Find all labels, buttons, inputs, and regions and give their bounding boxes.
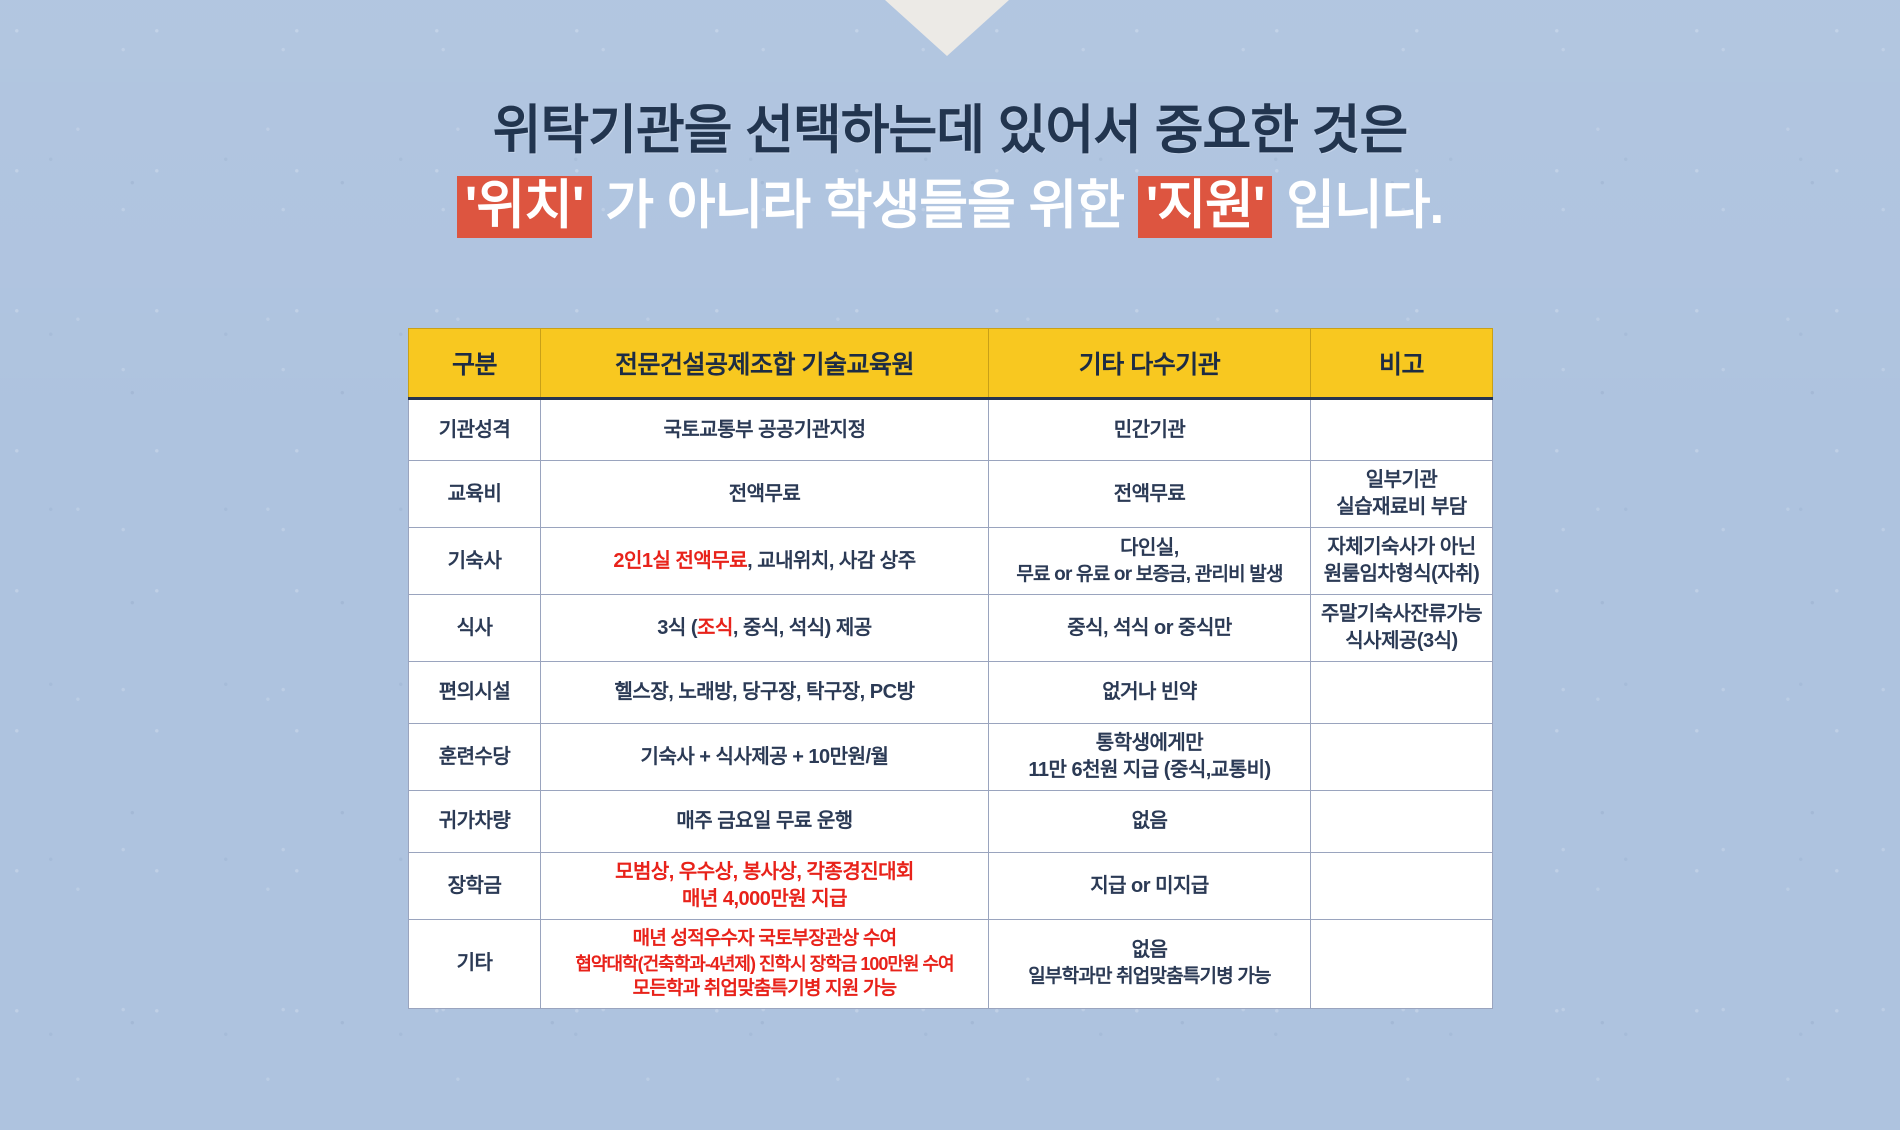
header-note: 비고 [1311,329,1493,399]
row-note [1311,399,1493,461]
row-main-line-1: 모범상, 우수상, 봉사상, 각종경진대회 [547,859,982,886]
row-other: 없음 [989,791,1311,853]
row-main-prefix: 3식 ( [657,617,697,639]
row-label: 편의시설 [409,662,541,724]
row-other: 없음 일부학과만 취업맞춤특기병 가능 [989,920,1311,1009]
table-row: 식사 3식 (조식, 중식, 석식) 제공 중식, 석식 or 중식만 주말기숙… [409,595,1493,662]
row-note [1311,724,1493,791]
row-main-line-2: 협약대학(건축학과-4년제) 진학시 장학금 100만원 수여 [547,952,982,976]
comparison-table-wrap: 구분 전문건설공제조합 기술교육원 기타 다수기관 비고 기관성격 국토교통부 … [408,328,1492,1009]
title-block: 위탁기관을 선택하는데 있어서 중요한 것은 '위치' 가 아니라 학생들을 위… [0,100,1900,238]
title-line-1: 위탁기관을 선택하는데 있어서 중요한 것은 [0,100,1900,163]
row-label: 장학금 [409,853,541,920]
row-other: 없거나 빈약 [989,662,1311,724]
row-label: 귀가차량 [409,791,541,853]
row-note: 주말기숙사잔류가능 식사제공(3식) [1311,595,1493,662]
row-main: 매년 성적우수자 국토부장관상 수여 협약대학(건축학과-4년제) 진학시 장학… [541,920,989,1009]
row-label: 기타 [409,920,541,1009]
title-highlight-support: '지원' [1138,176,1273,238]
row-main-line-3: 모든학과 취업맞춤특기병 지원 가능 [547,976,982,1002]
row-main: 헬스장, 노래방, 당구장, 탁구장, PC방 [541,662,989,724]
title-line-2: '위치' 가 아니라 학생들을 위한 '지원' 입니다. [0,175,1900,238]
row-main: 2인1실 전액무료, 교내위치, 사감 상주 [541,528,989,595]
table-row: 귀가차량 매주 금요일 무료 운행 없음 [409,791,1493,853]
row-note-line-2: 원룸임차형식(자취) [1317,561,1486,588]
row-main-suffix: , 중식, 석식) 제공 [733,617,872,639]
header-main: 전문건설공제조합 기술교육원 [541,329,989,399]
table-row: 교육비 전액무료 전액무료 일부기관 실습재료비 부담 [409,461,1493,528]
row-label: 훈련수당 [409,724,541,791]
row-note-line-2: 실습재료비 부담 [1317,494,1486,521]
row-note [1311,662,1493,724]
row-label: 식사 [409,595,541,662]
row-other-line-2: 11만 6천원 지급 (중식,교통비) [995,757,1304,784]
row-main-line-1: 매년 성적우수자 국토부장관상 수여 [547,926,982,952]
row-main: 기숙사 + 식사제공 + 10만원/월 [541,724,989,791]
row-note-line-1: 주말기숙사잔류가능 [1317,601,1486,628]
row-main-emphasis: 2인1실 전액무료 [613,550,747,572]
row-other: 다인실, 무료 or 유료 or 보증금, 관리비 발생 [989,528,1311,595]
row-main: 3식 (조식, 중식, 석식) 제공 [541,595,989,662]
table-row: 훈련수당 기숙사 + 식사제공 + 10만원/월 통학생에게만 11만 6천원 … [409,724,1493,791]
table-header-row: 구분 전문건설공제조합 기술교육원 기타 다수기관 비고 [409,329,1493,399]
row-main: 매주 금요일 무료 운행 [541,791,989,853]
row-other: 중식, 석식 or 중식만 [989,595,1311,662]
row-label: 기관성격 [409,399,541,461]
row-other: 전액무료 [989,461,1311,528]
row-label: 기숙사 [409,528,541,595]
table-row: 기타 매년 성적우수자 국토부장관상 수여 협약대학(건축학과-4년제) 진학시… [409,920,1493,1009]
header-other: 기타 다수기관 [989,329,1311,399]
row-note-line-2: 식사제공(3식) [1317,628,1486,655]
row-note-line-1: 일부기관 [1317,467,1486,494]
comparison-table: 구분 전문건설공제조합 기술교육원 기타 다수기관 비고 기관성격 국토교통부 … [408,328,1493,1009]
row-other-line-1: 통학생에게만 [995,730,1304,757]
table-row: 기관성격 국토교통부 공공기관지정 민간기관 [409,399,1493,461]
title-line-2-end: 입니다. [1286,176,1443,235]
row-label: 교육비 [409,461,541,528]
row-main: 전액무료 [541,461,989,528]
row-note [1311,853,1493,920]
row-main-rest: , 교내위치, 사감 상주 [747,550,915,572]
row-note [1311,920,1493,1009]
row-other-line-2: 일부학과만 취업맞춤특기병 가능 [995,964,1304,990]
header-gubun: 구분 [409,329,541,399]
row-other: 민간기관 [989,399,1311,461]
row-other-line-2: 무료 or 유료 or 보증금, 관리비 발생 [995,562,1304,588]
row-other: 통학생에게만 11만 6천원 지급 (중식,교통비) [989,724,1311,791]
table-row: 장학금 모범상, 우수상, 봉사상, 각종경진대회 매년 4,000만원 지급 … [409,853,1493,920]
row-other: 지급 or 미지급 [989,853,1311,920]
table-row: 기숙사 2인1실 전액무료, 교내위치, 사감 상주 다인실, 무료 or 유료… [409,528,1493,595]
row-main-line-2: 매년 4,000만원 지급 [547,886,982,913]
title-line-2-middle: 가 아니라 학생들을 위한 [605,176,1124,235]
row-other-line-1: 없음 [995,937,1304,964]
title-highlight-location: '위치' [457,176,592,238]
row-main: 국토교통부 공공기관지정 [541,399,989,461]
row-note [1311,791,1493,853]
row-other-line-1: 다인실, [995,535,1304,562]
row-note: 자체기숙사가 아닌 원룸임차형식(자취) [1311,528,1493,595]
row-note: 일부기관 실습재료비 부담 [1311,461,1493,528]
row-note-line-1: 자체기숙사가 아닌 [1317,534,1486,561]
row-main-emphasis: 조식 [697,617,733,639]
table-row: 편의시설 헬스장, 노래방, 당구장, 탁구장, PC방 없거나 빈약 [409,662,1493,724]
top-notch-triangle [885,0,1009,56]
row-main: 모범상, 우수상, 봉사상, 각종경진대회 매년 4,000만원 지급 [541,853,989,920]
